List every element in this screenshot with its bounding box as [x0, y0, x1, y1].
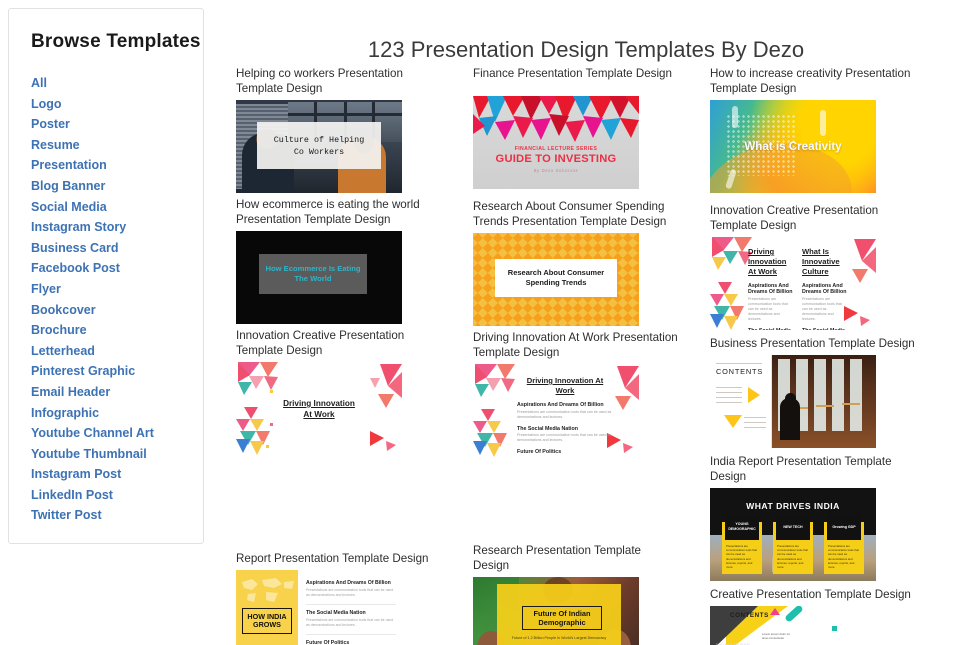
yellow-overlay-panel: Future Of Indian Demographic Future of 1…: [497, 584, 621, 645]
slide-text: Research About Consumer Spending Trends: [508, 268, 604, 288]
sidebar-item-blog-banner[interactable]: Blog Banner: [31, 176, 203, 197]
sidebar-item-social-media[interactable]: Social Media: [31, 197, 203, 218]
pillar-body: Presentations are communication tools th…: [726, 544, 758, 569]
template-thumbnail[interactable]: Driving Innovation At Work: [236, 362, 402, 455]
template-grid: Helping co workers Presentation Template…: [236, 66, 948, 642]
sidebar-item-youtube-thumbnail[interactable]: Youtube Thumbnail: [31, 444, 203, 465]
sidebar-item-facebook-post[interactable]: Facebook Post: [31, 258, 203, 279]
template-card[interactable]: Report Presentation Template Design HOW …: [236, 551, 473, 645]
sidebar-item-twitter-post[interactable]: Twitter Post: [31, 505, 203, 526]
section-body: Presentations are communication tools th…: [748, 297, 794, 322]
section-heading: The Social Media Nation: [748, 328, 794, 331]
sidebar-item-bookcover[interactable]: Bookcover: [31, 300, 203, 321]
triangle-cluster-icon: [238, 362, 284, 402]
section-heading: The Social Media Nation: [517, 426, 613, 432]
template-thumbnail[interactable]: HOW INDIA GROWS Aspirations And Dreams O…: [236, 570, 402, 645]
sidebar-title: Browse Templates: [31, 31, 203, 53]
slide-headline: What is Creativity: [710, 140, 876, 153]
template-thumbnail[interactable]: Driving Innovation At Work Aspirations A…: [473, 364, 639, 457]
card-title[interactable]: Research About Consumer Spending Trends …: [473, 199, 678, 229]
grid-column-2: Finance Presentation Template Design: [473, 66, 710, 642]
template-card[interactable]: How to increase creativity Presentation …: [710, 66, 947, 193]
slide-column-right: What Is Innovative Culture Aspirations A…: [802, 247, 848, 330]
browse-templates-sidebar: Browse Templates All Logo Poster Resume …: [8, 8, 204, 544]
template-card[interactable]: Business Presentation Template Design: [710, 336, 947, 448]
slide-column-left: Driving Innovation At Work Aspirations A…: [748, 247, 794, 330]
card-title[interactable]: Creative Presentation Template Design: [710, 587, 915, 602]
light-streak: [732, 106, 738, 128]
template-card[interactable]: Helping co workers Presentation Template…: [236, 66, 473, 193]
template-card[interactable]: Creative Presentation Template Design CO…: [710, 587, 947, 645]
template-card[interactable]: Research Presentation Template Design Fu…: [473, 543, 710, 645]
grid-column-1: Helping co workers Presentation Template…: [236, 66, 473, 642]
template-thumbnail[interactable]: CONTENTS Lorem ipsum dolor sit amet cons…: [710, 606, 876, 645]
world-map-icon: [238, 574, 296, 608]
teal-square-icon: [832, 626, 837, 631]
section-heading: The Social Media Nation: [802, 328, 848, 331]
divider: [306, 634, 396, 635]
slide-body: Driving Innovation At Work Aspirations A…: [517, 376, 613, 457]
section-heading: Future Of Politics: [517, 449, 613, 455]
card-title[interactable]: How to increase creativity Presentation …: [710, 66, 915, 96]
pillar-body: Presentations are communication tools th…: [777, 544, 809, 569]
contents-pane: CONTENTS: [710, 355, 772, 448]
slide-text-panel: How Ecommerce Is Eating The World: [259, 254, 367, 294]
page-title: 123 Presentation Design Templates By Dez…: [236, 37, 936, 63]
template-card[interactable]: Research About Consumer Spending Trends …: [473, 199, 710, 326]
light-streak: [820, 110, 826, 136]
divider: [716, 363, 762, 364]
slide-body: Aspirations And Dreams Of Billion Presen…: [306, 580, 396, 645]
template-card[interactable]: Innovation Creative Presentation Templat…: [710, 203, 947, 330]
template-thumbnail[interactable]: Culture of Helping Co Workers: [236, 100, 402, 193]
slide-text-block: FINANCIAL LECTURE SERIES GUIDE TO INVEST…: [473, 146, 639, 173]
contents-label: CONTENTS: [730, 612, 769, 619]
template-thumbnail[interactable]: How Ecommerce Is Eating The World: [236, 231, 402, 324]
template-thumbnail[interactable]: FINANCIAL LECTURE SERIES GUIDE TO INVEST…: [473, 96, 639, 189]
sidebar-item-all[interactable]: All: [31, 73, 203, 94]
content-item: Lorem ipsum dolor sit amet consectetur: [762, 632, 796, 640]
divider: [306, 604, 396, 605]
template-card[interactable]: India Report Presentation Template Desig…: [710, 454, 947, 581]
slide-line-1: Culture of Helping: [274, 134, 364, 146]
category-nav-list: All Logo Poster Resume Presentation Blog…: [31, 73, 203, 526]
sidebar-item-linkedin-post[interactable]: LinkedIn Post: [31, 485, 203, 506]
headline-badge: HOW INDIA GROWS: [242, 608, 292, 634]
pillar-label: Growing GDP: [827, 514, 861, 540]
headline-text: Future Of Indian Demographic: [533, 609, 590, 627]
architecture-photo: [772, 355, 876, 448]
slide-heading: What Is Innovative Culture: [802, 247, 848, 277]
template-card[interactable]: Finance Presentation Template Design: [473, 66, 710, 189]
template-card[interactable]: Driving Innovation At Work Presentation …: [473, 330, 710, 457]
triangle-icon: [370, 429, 396, 451]
sidebar-item-instagram-post[interactable]: Instagram Post: [31, 464, 203, 485]
sidebar-item-youtube-channel-art[interactable]: Youtube Channel Art: [31, 423, 203, 444]
section-body: Presentations are communication tools th…: [517, 410, 613, 420]
card-title[interactable]: How ecommerce is eating the world Presen…: [236, 197, 441, 227]
card-title[interactable]: Innovation Creative Presentation Templat…: [236, 328, 441, 358]
sidebar-item-pinterest-graphic[interactable]: Pinterest Graphic: [31, 361, 203, 382]
triangle-cluster-icon: [475, 364, 521, 404]
card-title[interactable]: Innovation Creative Presentation Templat…: [710, 203, 915, 233]
triangle-icon: [770, 608, 780, 615]
triangle-right-icon: [748, 387, 760, 403]
section-body: Presentations are communication tools th…: [306, 618, 396, 628]
slide-heading: Driving Innovation At Work: [517, 376, 613, 396]
grid-column-3: How to increase creativity Presentation …: [710, 66, 947, 642]
headline-box: Future Of Indian Demographic: [522, 606, 602, 630]
section-heading: Aspirations And Dreams Of Billion: [748, 283, 794, 295]
card-title[interactable]: Helping co workers Presentation Template…: [236, 66, 441, 96]
template-thumbnail[interactable]: What is Creativity: [710, 100, 876, 193]
template-thumbnail[interactable]: CONTENTS: [710, 355, 876, 448]
person-silhouette: [780, 398, 800, 440]
card-title[interactable]: Report Presentation Template Design: [236, 551, 441, 566]
slide-subtitle: Future of 1.2 Billion People In World's …: [497, 636, 621, 641]
slide-text-panel: Culture of Helping Co Workers: [257, 122, 381, 169]
pillar-card: YOUNG DEMOGRAPHIC Presentations are comm…: [722, 522, 762, 574]
slide-heading: Driving Innovation At Work: [236, 398, 402, 420]
triangle-down-icon: [724, 415, 742, 428]
card-title[interactable]: Driving Innovation At Work Presentation …: [473, 330, 678, 360]
card-title[interactable]: Finance Presentation Template Design: [473, 66, 678, 81]
slide-line-2: Co Workers: [294, 146, 344, 158]
sidebar-item-resume[interactable]: Resume: [31, 135, 203, 156]
section-heading: The Social Media Nation: [306, 610, 396, 616]
sidebar-item-brochure[interactable]: Brochure: [31, 320, 203, 341]
slide-byline: By Dezo Solutions: [473, 168, 639, 173]
pillar-body: Presentations are communication tools th…: [828, 544, 860, 569]
slide-text-panel: Research About Consumer Spending Trends: [495, 259, 617, 297]
slide-text: How Ecommerce Is Eating The World: [266, 264, 361, 284]
person-head: [785, 393, 796, 404]
sidebar-item-instagram-story[interactable]: Instagram Story: [31, 217, 203, 238]
sidebar-item-logo[interactable]: Logo: [31, 94, 203, 115]
slide-heading: Driving Innovation At Work: [748, 247, 794, 277]
contents-label: CONTENTS: [716, 367, 763, 376]
template-card[interactable]: Innovation Creative Presentation Templat…: [236, 328, 473, 455]
section-body: Presentations are communication tools th…: [802, 297, 848, 322]
slide-eyebrow: FINANCIAL LECTURE SERIES: [473, 146, 639, 152]
sidebar-item-email-header[interactable]: Email Header: [31, 382, 203, 403]
pillar-label: YOUNG DEMOGRAPHIC: [725, 514, 759, 540]
card-title[interactable]: Research Presentation Template Design: [473, 543, 678, 573]
template-card[interactable]: How ecommerce is eating the world Presen…: [236, 197, 473, 324]
slide-body: Driving Innovation At Work Aspirations A…: [748, 247, 848, 330]
slide-headline: GUIDE TO INVESTING: [473, 153, 639, 165]
template-gallery-page: Browse Templates All Logo Poster Resume …: [0, 0, 960, 645]
section-heading: Aspirations And Dreams Of Billion: [517, 402, 613, 408]
pillar-label: NEW TECH: [776, 514, 810, 540]
section-heading: Future Of Politics: [306, 640, 396, 645]
pillar-card: NEW TECH Presentations are communication…: [773, 522, 813, 574]
template-thumbnail[interactable]: Research About Consumer Spending Trends: [473, 233, 639, 326]
card-title[interactable]: India Report Presentation Template Desig…: [710, 454, 915, 484]
yellow-panel: HOW INDIA GROWS: [236, 570, 298, 645]
sidebar-item-infographic[interactable]: Infographic: [31, 403, 203, 424]
sidebar-item-business-card[interactable]: Business Card: [31, 238, 203, 259]
sidebar-item-flyer[interactable]: Flyer: [31, 279, 203, 300]
template-thumbnail[interactable]: WHAT DRIVES INDIA YOUNG DEMOGRAPHIC Pres…: [710, 488, 876, 581]
section-heading: Aspirations And Dreams Of Billion: [306, 580, 396, 586]
sidebar-item-letterhead[interactable]: Letterhead: [31, 341, 203, 362]
section-body: Presentations are communication tools th…: [517, 433, 613, 443]
section-body: Presentations are communication tools th…: [306, 588, 396, 598]
template-thumbnail[interactable]: Future Of Indian Demographic Future of 1…: [473, 577, 639, 645]
badge-text: HOW INDIA GROWS: [247, 613, 286, 630]
section-body: Presentations are communication tools th…: [517, 457, 613, 458]
slide-headline: WHAT DRIVES INDIA: [710, 501, 876, 511]
pillar-card: Growing GDP Presentations are communicat…: [824, 522, 864, 574]
template-thumbnail[interactable]: Driving Innovation At Work Aspirations A…: [710, 237, 876, 330]
sidebar-item-poster[interactable]: Poster: [31, 114, 203, 135]
card-title[interactable]: Business Presentation Template Design: [710, 336, 915, 351]
sidebar-item-presentation[interactable]: Presentation: [31, 155, 203, 176]
section-heading: Aspirations And Dreams Of Billion: [802, 283, 848, 295]
